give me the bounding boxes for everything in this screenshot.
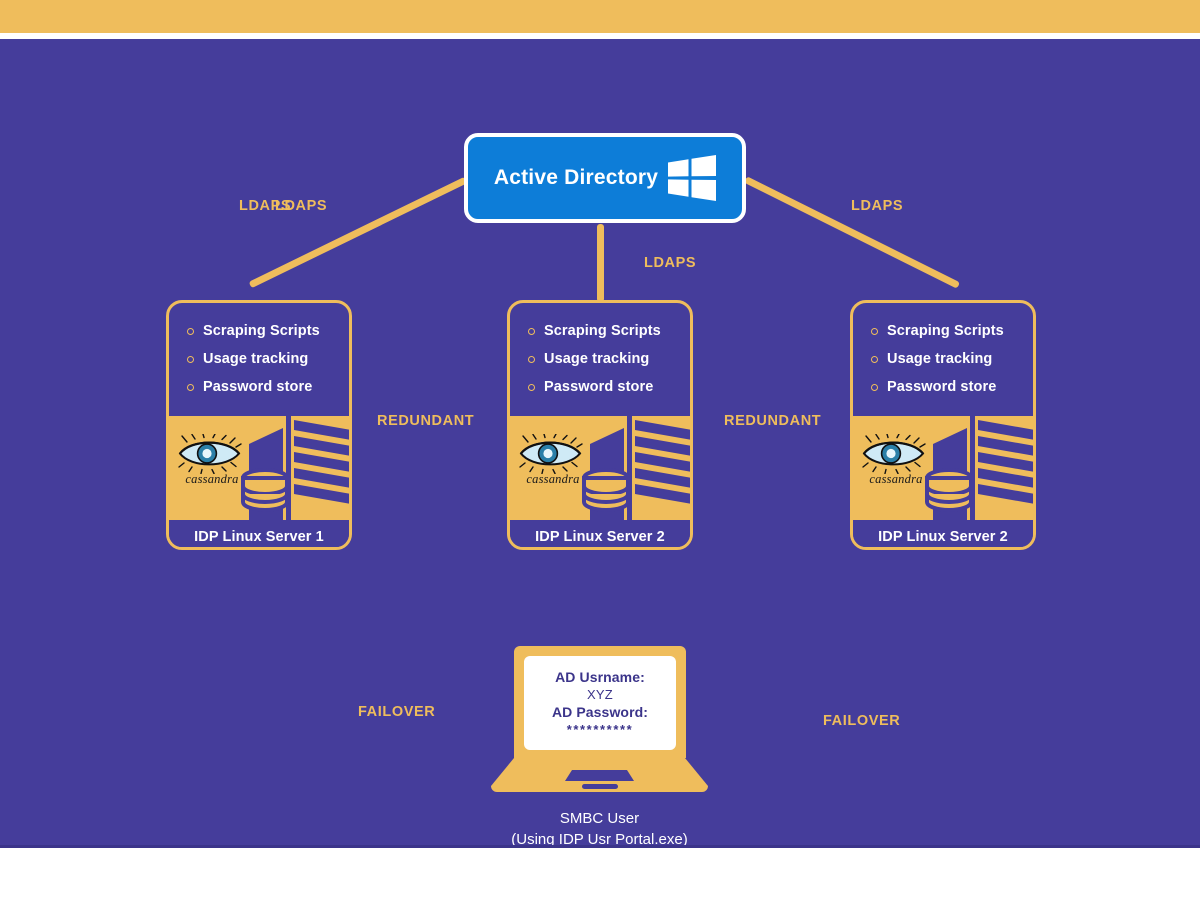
edge-label-redundant-left: REDUNDANT bbox=[377, 413, 474, 429]
edge-label-failover-right: FAILOVER bbox=[823, 713, 900, 729]
client-caption: SMBC User (Using IDP Usr Portal.exe) bbox=[489, 808, 710, 847]
cassandra-logo: cassandra bbox=[861, 434, 931, 500]
ad-password-label: AD Password: bbox=[552, 704, 648, 720]
server-1-feature-list: Scraping Scripts Usage tracking Password… bbox=[169, 303, 349, 407]
server-2-title: IDP Linux Server 2 bbox=[535, 529, 665, 545]
client-laptop[interactable]: AD Usrname: XYZ AD Password: ********** bbox=[489, 646, 710, 794]
server-1-feature-item: Password store bbox=[187, 379, 349, 395]
bullet-circle-icon bbox=[528, 356, 535, 363]
server-card-3[interactable]: Scraping Scripts Usage tracking Password… bbox=[850, 300, 1036, 550]
server-3-feature-item: Password store bbox=[871, 379, 1033, 395]
server-3-title: IDP Linux Server 2 bbox=[878, 529, 1008, 545]
server-building-database-icon bbox=[580, 416, 693, 520]
diagram-canvas: Active Directory LDAPS LDAPS LDAPS LDAPS… bbox=[0, 0, 1200, 922]
server-1-feature-item: Usage tracking bbox=[187, 351, 349, 367]
server-building-database-icon bbox=[923, 416, 1036, 520]
bullet-circle-icon bbox=[528, 384, 535, 391]
server-2-feature-label: Scraping Scripts bbox=[544, 323, 661, 339]
server-2-feature-item: Password store bbox=[528, 379, 690, 395]
connector-ad-to-server-2 bbox=[597, 224, 604, 302]
server-building-database-icon bbox=[239, 416, 352, 520]
bullet-circle-icon bbox=[187, 356, 194, 363]
server-1-feature-label: Scraping Scripts bbox=[203, 323, 320, 339]
bullet-circle-icon bbox=[187, 328, 194, 335]
cassandra-logo-text: cassandra bbox=[177, 472, 247, 487]
cassandra-logo-text: cassandra bbox=[861, 472, 931, 487]
server-2-feature-item: Scraping Scripts bbox=[528, 323, 690, 339]
server-3-footer: IDP Linux Server 2 bbox=[853, 520, 1033, 550]
server-3-graphic-panel: cassandra bbox=[853, 416, 1033, 520]
server-card-2[interactable]: Scraping Scripts Usage tracking Password… bbox=[507, 300, 693, 550]
server-2-feature-list: Scraping Scripts Usage tracking Password… bbox=[510, 303, 690, 407]
laptop-front-bar bbox=[582, 784, 618, 789]
server-2-feature-label: Password store bbox=[544, 379, 653, 395]
windows-logo-icon bbox=[668, 155, 716, 201]
server-3-feature-label: Usage tracking bbox=[887, 351, 992, 367]
bullet-circle-icon bbox=[187, 384, 194, 391]
cassandra-logo-text: cassandra bbox=[518, 472, 588, 487]
server-1-graphic-panel: cassandra bbox=[169, 416, 349, 520]
server-2-feature-item: Usage tracking bbox=[528, 351, 690, 367]
server-1-feature-item: Scraping Scripts bbox=[187, 323, 349, 339]
top-gold-band bbox=[0, 0, 1200, 33]
bottom-white-band bbox=[0, 848, 1200, 922]
bullet-circle-icon bbox=[528, 328, 535, 335]
server-2-footer: IDP Linux Server 2 bbox=[510, 520, 690, 550]
diagram-stage: Active Directory LDAPS LDAPS LDAPS LDAPS… bbox=[0, 39, 1200, 847]
server-3-feature-label: Password store bbox=[887, 379, 996, 395]
client-caption-line-1: SMBC User bbox=[489, 808, 710, 829]
connector-ad-to-server-3 bbox=[744, 176, 960, 288]
server-3-feature-list: Scraping Scripts Usage tracking Password… bbox=[853, 303, 1033, 407]
bullet-circle-icon bbox=[871, 384, 878, 391]
laptop-trackpad bbox=[565, 770, 634, 781]
cassandra-logo: cassandra bbox=[518, 434, 588, 500]
server-3-feature-item: Scraping Scripts bbox=[871, 323, 1033, 339]
edge-label-failover-left: FAILOVER bbox=[358, 704, 435, 720]
edge-label-ldaps-left-b: LDAPS bbox=[275, 198, 327, 214]
edge-label-ldaps-right: LDAPS bbox=[851, 198, 903, 214]
active-directory-node[interactable]: Active Directory bbox=[464, 133, 746, 223]
server-1-title: IDP Linux Server 1 bbox=[194, 529, 324, 545]
bullet-circle-icon bbox=[871, 356, 878, 363]
ad-username-value: XYZ bbox=[587, 687, 613, 702]
server-3-feature-item: Usage tracking bbox=[871, 351, 1033, 367]
ad-username-label: AD Usrname: bbox=[555, 669, 645, 685]
server-2-graphic-panel: cassandra bbox=[510, 416, 690, 520]
server-3-feature-label: Scraping Scripts bbox=[887, 323, 1004, 339]
cassandra-logo: cassandra bbox=[177, 434, 247, 500]
server-1-feature-label: Password store bbox=[203, 379, 312, 395]
server-1-footer: IDP Linux Server 1 bbox=[169, 520, 349, 550]
laptop-base bbox=[489, 758, 710, 794]
laptop-screen: AD Usrname: XYZ AD Password: ********** bbox=[524, 656, 676, 750]
ad-password-value: ********** bbox=[567, 722, 634, 737]
server-1-feature-label: Usage tracking bbox=[203, 351, 308, 367]
active-directory-label: Active Directory bbox=[494, 166, 658, 190]
edge-label-redundant-right: REDUNDANT bbox=[724, 413, 821, 429]
server-2-feature-label: Usage tracking bbox=[544, 351, 649, 367]
bullet-circle-icon bbox=[871, 328, 878, 335]
server-card-1[interactable]: Scraping Scripts Usage tracking Password… bbox=[166, 300, 352, 550]
edge-label-ldaps-middle: LDAPS bbox=[644, 255, 696, 271]
connector-ad-to-server-1 bbox=[249, 177, 468, 289]
